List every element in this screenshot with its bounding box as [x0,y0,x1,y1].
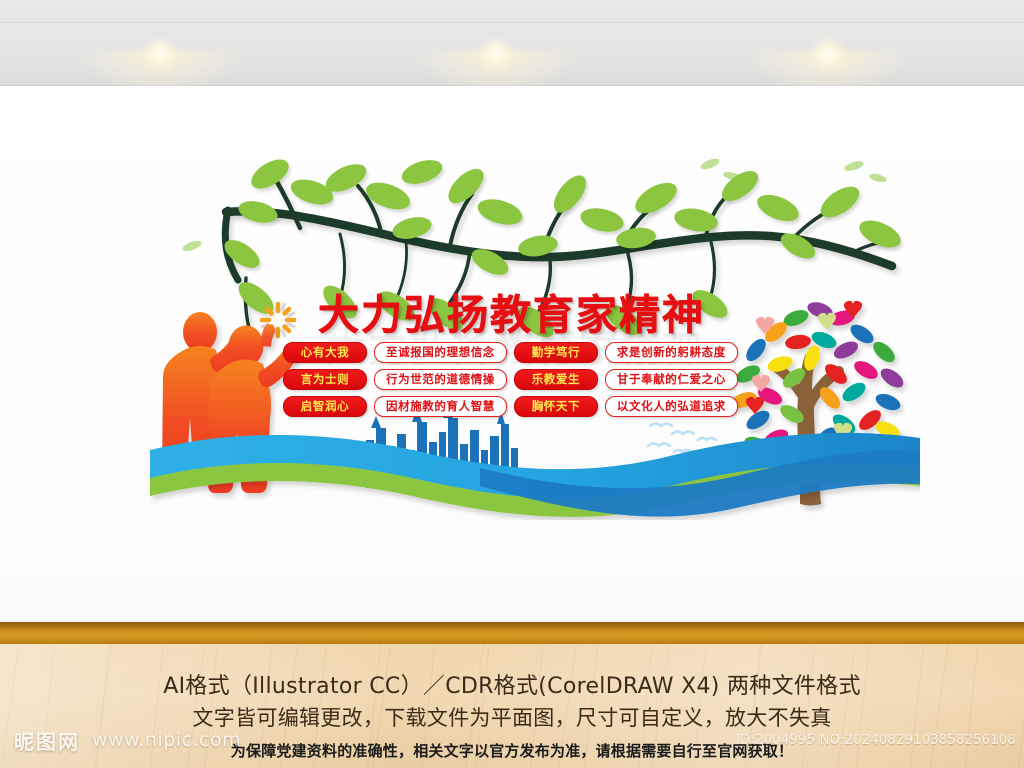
watermark-logo: 昵图网 [14,726,80,755]
slogan-row: 言为士则 行为世范的道德情操 乐教爱生 甘于奉献的仁爱之心 [283,369,738,390]
screenshot-stage: 大力弘扬教育家精神 大力弘扬教育家精神 心有大我 至诚报国的理想信念 勤学笃行 … [0,0,1024,768]
slogan-pill-outline[interactable]: 行为世范的道德情操 [374,369,507,390]
slogan-pill-solid[interactable]: 启智润心 [283,396,367,417]
slogan-pill-solid[interactable]: 勤学笃行 [514,342,598,363]
watermark-url: www.nipic.com [92,729,241,751]
slogan-row: 心有大我 至诚报国的理想信念 勤学笃行 求是创新的躬耕态度 [283,342,738,363]
slogan-pill-solid[interactable]: 乐教爱生 [514,369,598,390]
spotlight-1 [152,46,168,62]
slogan-pill-outline[interactable]: 至诚报国的理想信念 [374,342,507,363]
slogan-pill-outline[interactable]: 以文化人的弘道追求 [605,396,738,417]
caption-formats: AI格式（Illustrator CC）／CDR格式(CorelDRAW X4)… [0,668,1024,700]
slogan-pill-outline[interactable]: 求是创新的躬耕态度 [605,342,738,363]
spotlight-2 [488,46,504,62]
caption-editable: 文字皆可编辑更改，下载文件为平面图，尺寸可自定义，放大不失真 [0,702,1024,732]
wall-artwork: 大力弘扬教育家精神 大力弘扬教育家精神 心有大我 至诚报国的理想信念 勤学笃行 … [150,150,920,520]
ceiling-upper [0,0,1024,23]
spotlight-3 [820,46,836,62]
slogan-pill-outline[interactable]: 因材施教的育人智慧 [374,396,507,417]
slogan-row: 启智润心 因材施教的育人智慧 胸怀天下 以文化人的弘道追求 [283,396,738,417]
slogan-pill-solid[interactable]: 胸怀天下 [514,396,598,417]
flying-birds-graphic [648,424,716,453]
slogan-grid: 心有大我 至诚报国的理想信念 勤学笃行 求是创新的躬耕态度 言为士则 行为世范的… [283,342,738,417]
slogan-pill-solid[interactable]: 心有大我 [283,342,367,363]
slogan-pill-solid[interactable]: 言为士则 [283,369,367,390]
watermark-id: ID:2004995 NO:20240829103858256108 [736,733,1016,748]
page-title: 大力弘扬教育家精神 [318,295,705,336]
floor-skirting [0,622,1024,644]
slogan-pill-outline[interactable]: 甘于奉献的仁爱之心 [605,369,738,390]
